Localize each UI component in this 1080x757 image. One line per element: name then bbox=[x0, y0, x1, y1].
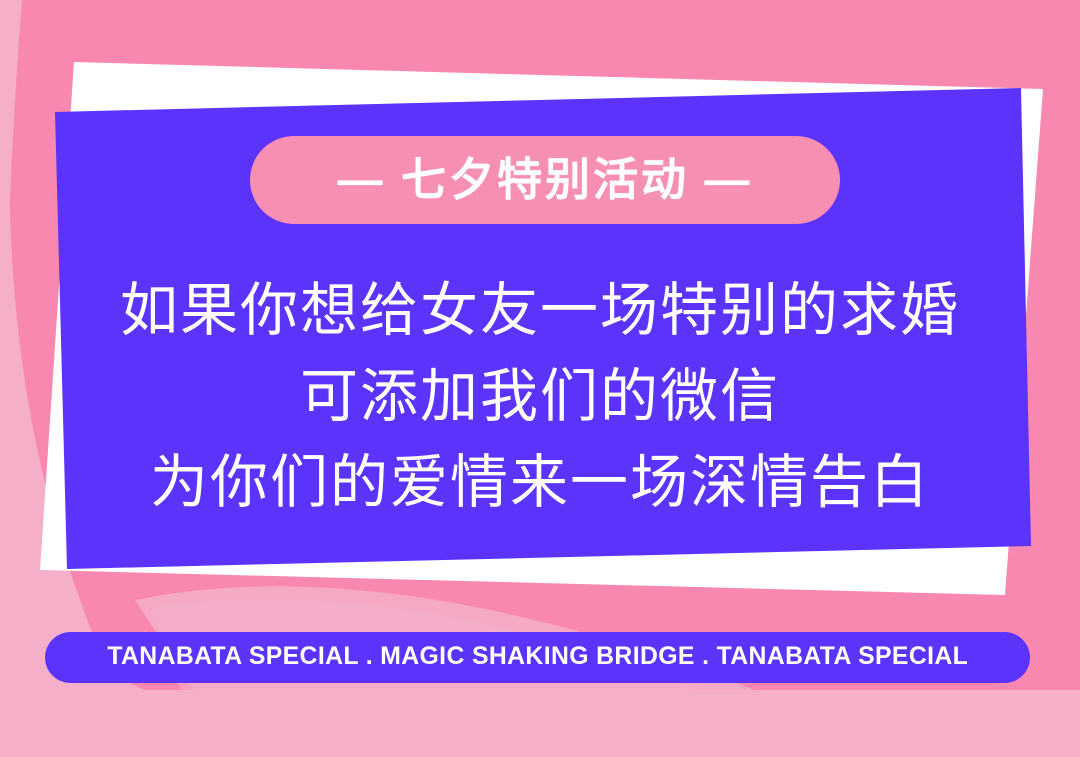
headline-line-1: 如果你想给女友一场特别的求婚 bbox=[60, 268, 1020, 354]
headline-line-3: 为你们的爱情来一场深情告白 bbox=[60, 440, 1020, 526]
footer-pill: TANABATA SPECIAL . MAGIC SHAKING BRIDGE … bbox=[45, 632, 1030, 683]
headline-block: 如果你想给女友一场特别的求婚 可添加我们的微信 为你们的爱情来一场深情告白 bbox=[60, 268, 1020, 526]
event-badge: — 七夕特别活动 — bbox=[250, 136, 840, 224]
poster-content: — 七夕特别活动 — 如果你想给女友一场特别的求婚 可添加我们的微信 为你们的爱… bbox=[0, 0, 1080, 757]
footer-pill-label: TANABATA SPECIAL . MAGIC SHAKING BRIDGE … bbox=[107, 644, 968, 669]
headline-line-2: 可添加我们的微信 bbox=[60, 354, 1020, 440]
event-badge-label: — 七夕特别活动 — bbox=[337, 157, 752, 202]
poster-canvas: — 七夕特别活动 — 如果你想给女友一场特别的求婚 可添加我们的微信 为你们的爱… bbox=[0, 0, 1080, 757]
